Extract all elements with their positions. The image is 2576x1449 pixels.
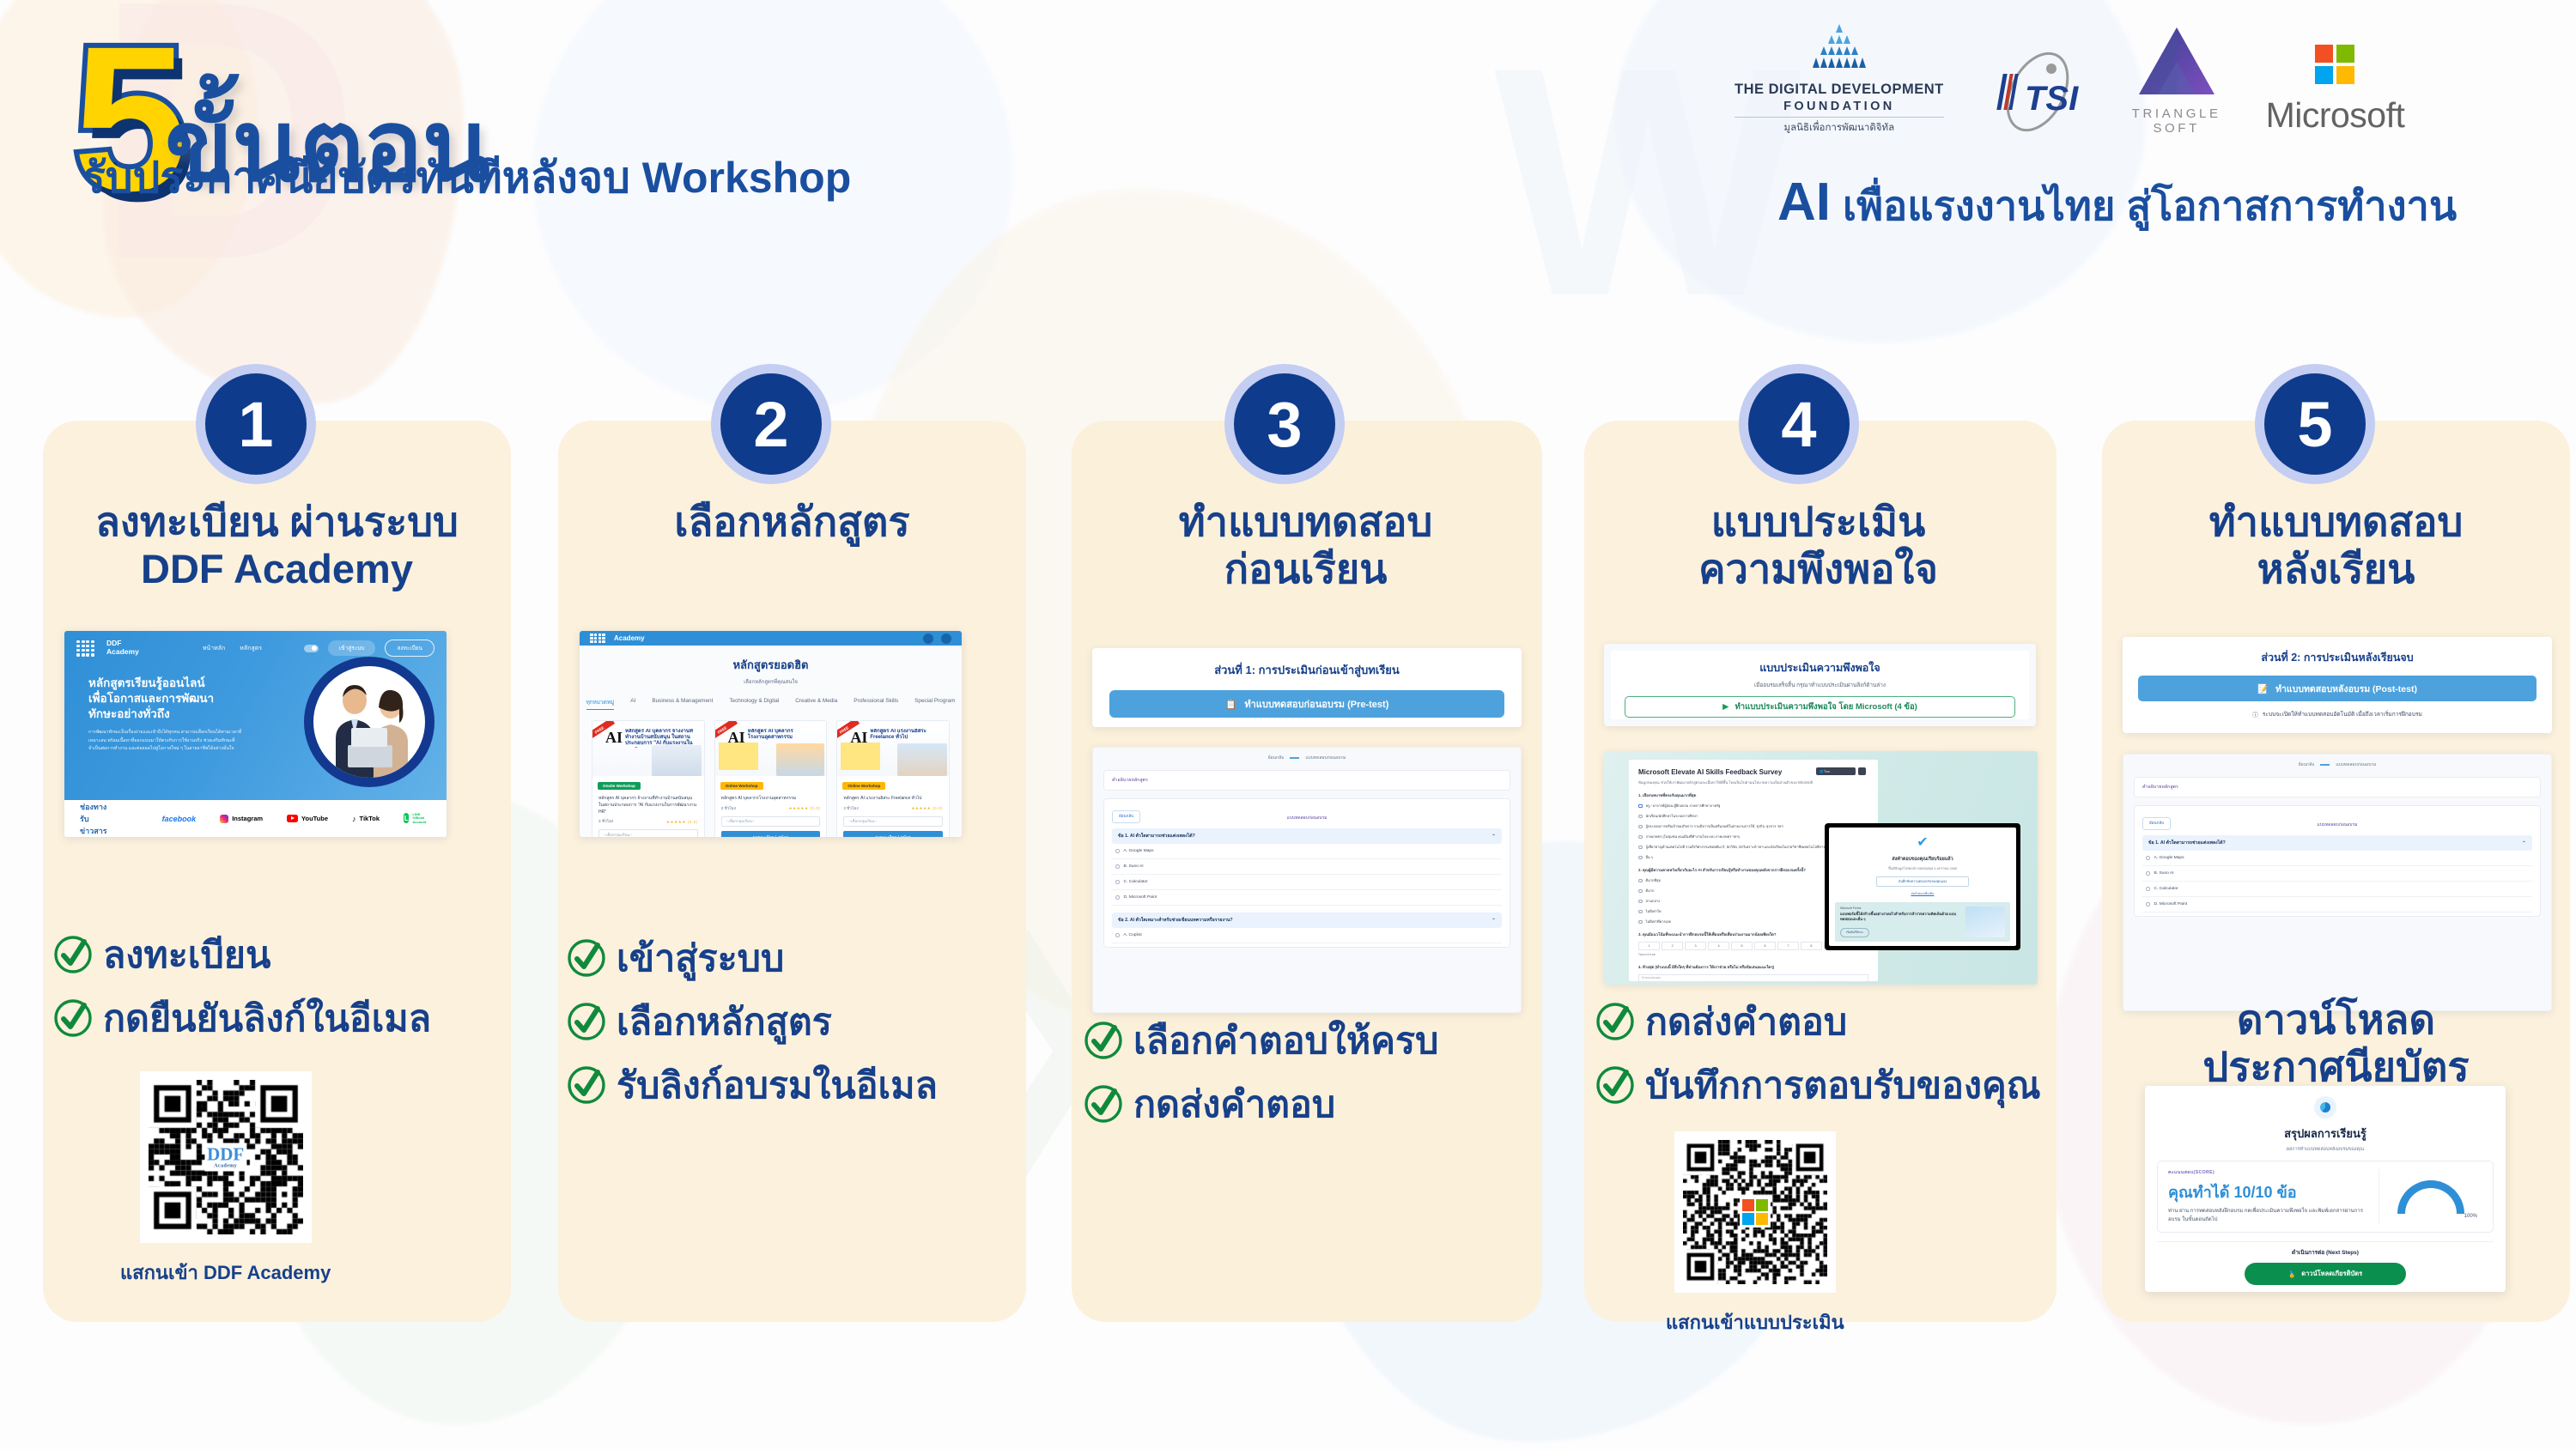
pretest-quiz-screenshot: ย้อนกลับแบบทดสอบก่อนอบรม คำอธิบายหลักสูต… bbox=[1092, 747, 1522, 1013]
form-option[interactable]: นักเรียน/นักศึกษาในระบบการศึกษา bbox=[1638, 813, 1868, 819]
tiktok-icon: ♪ bbox=[352, 815, 356, 823]
triangle-icon bbox=[2136, 24, 2218, 103]
forms-promo-brand: Microsoft Forms bbox=[1840, 906, 1961, 910]
radio-icon bbox=[2146, 871, 2150, 876]
radio-icon bbox=[2146, 887, 2150, 891]
score-description: ท่าน ผ่าน การทดสอบหลังฝึกอบรม กดเพื่อประ… bbox=[2168, 1208, 2370, 1224]
forms-promo: Microsoft Forms แบบฟอร์มนี้ได้สร้างขึ้นอ… bbox=[1835, 902, 2010, 942]
success-check-icon: ✔ bbox=[1829, 836, 2016, 850]
avatar[interactable] bbox=[923, 634, 933, 644]
radio-icon bbox=[1115, 864, 1120, 869]
hero-heading-line1: หลักสูตรเรียนรู้ออนไลน์ bbox=[88, 676, 243, 691]
tab-ai[interactable]: AI bbox=[630, 698, 635, 710]
save-response-button[interactable]: บันทึกข้อความตอบกลับของคุณเอง bbox=[1876, 876, 1969, 887]
checklist-label: กดส่งคำตอบ bbox=[1645, 992, 1847, 1051]
course-card[interactable]: FREE AIหลักสูตร AI บุคลากรโรงงานอุตสาหกร… bbox=[714, 720, 828, 837]
survey-button[interactable]: ▶ ทำแบบประเมินความพึงพอใจ โดย Microsoft … bbox=[1625, 696, 2015, 718]
radio-icon bbox=[1115, 849, 1120, 853]
course-card[interactable]: FREE AIหลักสูตร AI แรงงานอิสระ Freelance… bbox=[836, 720, 950, 837]
campaign-thai-label: เพื่อแรงงานไทย สู่โอกาสการทำงาน bbox=[1843, 183, 2457, 228]
check-circle-icon bbox=[567, 1065, 606, 1105]
academy-mark-icon bbox=[590, 634, 605, 643]
quiz-option[interactable]: C. Calculator bbox=[1112, 875, 1502, 890]
summary-subheading: ผลการทำแบบทดสอบหลังอบรมของคุณ bbox=[2145, 1146, 2506, 1153]
instagram-icon bbox=[220, 815, 228, 823]
form-option[interactable]: ครู / อาจารย์ผู้สอน ผู้ฝึกอบรม ภาคการศึก… bbox=[1638, 803, 1868, 809]
course-group-select[interactable]: --เลือกกลุ่มเรียน-- bbox=[598, 829, 698, 837]
course-rating: ★★★★★ (0.0) bbox=[911, 806, 943, 811]
hero-heading-line3: ทักษะอย่างทั่วถึง bbox=[88, 706, 243, 722]
chart-icon bbox=[2314, 1096, 2336, 1119]
ddf-logo-line1: THE DIGITAL DEVELOPMENT bbox=[1735, 82, 1944, 98]
course-card-headline: หลักสูตร AI บุคลากรโรงงานอุตสาหกรรม bbox=[748, 729, 810, 743]
checklist-label: บันทึกการตอบรับของคุณ bbox=[1645, 1056, 2041, 1114]
ddf-academy-website-screenshot: DDFAcademy หน้าหลัก หลักสูตร เข้าสู่ระบบ… bbox=[64, 631, 447, 837]
step-badge-5: 5 bbox=[2264, 373, 2366, 475]
download-certificate-heading: ดาวน์โหลด ประกาศนียบัตร bbox=[2102, 996, 2570, 1091]
course-badge: Online Workshop bbox=[842, 782, 885, 790]
social-channels-label: ช่องทางรับข่าวสาร bbox=[80, 801, 109, 837]
checklist-item: บันทึกการตอบรับของคุณ bbox=[1595, 1056, 2041, 1114]
tab-business[interactable]: Business & Management bbox=[652, 698, 713, 710]
pretest-panel: ส่วนที่ 1: การประเมินก่อนเข้าสู่บทเรียน … bbox=[1092, 648, 1522, 727]
feedback-form-screenshot: 🌐 ไทย Microsoft Elevate AI Skills Feedba… bbox=[1604, 751, 2038, 985]
form-answer-input[interactable]: คำตอบของคุณ bbox=[1638, 974, 1868, 982]
ddf-academy-brand: DDFAcademy bbox=[106, 640, 139, 656]
checklist-item: รับลิงก์อบรมในอีเมล bbox=[567, 1056, 938, 1114]
line-icon: L bbox=[404, 813, 409, 823]
course-badge: Online Workshop bbox=[720, 782, 763, 790]
campaign-ai-label: AI bbox=[1777, 173, 1831, 232]
course-duration: 3 ชั่วโมง bbox=[598, 819, 613, 825]
course-card-headline: หลักสูตร AI แรงงานอิสระ Freelance ทั่วไป bbox=[870, 729, 932, 743]
check-circle-icon bbox=[567, 938, 606, 978]
radio-icon bbox=[2146, 902, 2150, 906]
hero-heading-line2: เพื่อโอกาสและการพัฒนา bbox=[88, 691, 243, 706]
ddf-logo: THE DIGITAL DEVELOPMENT FOUNDATION มูลนิ… bbox=[1735, 22, 1944, 136]
radio-icon bbox=[1638, 920, 1643, 925]
checklist-item: กดยืนยันลิงก์ในอีเมล bbox=[53, 989, 431, 1047]
course-title: หลักสูตร AI แรงงานอิสระ Freelance ทั่วไป bbox=[837, 791, 949, 803]
survey-section-title: แบบประเมินความพึงพอใจ bbox=[1611, 659, 2029, 676]
posttest-quiz-screenshot: ย้อนกลับแบบทดสอบก่อนอบรม คำอธิบายหลักสูต… bbox=[2123, 754, 2552, 1011]
qr-center-logo bbox=[1740, 1197, 1771, 1228]
radio-icon bbox=[2146, 856, 2150, 860]
course-card[interactable]: FREE AIหลักสูตร AI บุคลากร จ้างงานที่ทำง… bbox=[592, 720, 705, 837]
language-select[interactable]: 🌐 ไทย bbox=[1816, 767, 1856, 775]
course-badge: Onsite Workshop bbox=[598, 782, 641, 790]
step-title-4: แบบประเมิน ความพึงพอใจ bbox=[1584, 498, 2052, 593]
step-badge-1: 1 bbox=[205, 373, 307, 475]
score-gauge bbox=[2397, 1180, 2464, 1214]
tab-special[interactable]: Special Program bbox=[914, 698, 955, 710]
nps-note: ไม่แนะนำเลย bbox=[1638, 953, 1868, 957]
register-button[interactable]: ลงทะเบียน bbox=[385, 640, 434, 657]
edit-document-icon: 📝 bbox=[2257, 683, 2269, 694]
svg-text:TSI: TSI bbox=[2025, 80, 2079, 118]
check-circle-icon bbox=[53, 935, 93, 974]
quiz-title: แบบทดสอบก่อนอบรม bbox=[2142, 822, 2532, 828]
step-title-5-line2: หลังเรียน bbox=[2102, 545, 2570, 592]
course-rating: ★★★★★ (0.0) bbox=[789, 806, 821, 811]
course-title: หลักสูตร AI บุคลากรโรงงานอุตสาหกรรม bbox=[715, 791, 827, 803]
check-circle-icon bbox=[53, 998, 93, 1038]
youtube-link[interactable]: YouTube bbox=[287, 815, 328, 822]
pyramid-icon bbox=[1802, 22, 1876, 77]
clipboard-icon: 📋 bbox=[1225, 699, 1237, 710]
checklist-item: เข้าสู่ระบบ bbox=[567, 929, 938, 987]
quiz-title: แบบทดสอบก่อนอบรม bbox=[1112, 815, 1502, 822]
category-tabs: ทุกหมวดหมู่ AI Business & Management Tec… bbox=[580, 698, 962, 710]
site-nav-home[interactable]: หน้าหลัก bbox=[203, 644, 225, 653]
line-link[interactable]: LLINE Official Account bbox=[404, 813, 431, 824]
theme-toggle[interactable] bbox=[304, 645, 319, 652]
youtube-icon bbox=[287, 815, 298, 822]
checklist-label: เลือกหลักสูตร bbox=[617, 992, 832, 1051]
qr-caption: แสกนเข้า DDF Academy bbox=[120, 1258, 331, 1288]
quiz-option[interactable]: A. Google Maps bbox=[1112, 844, 1502, 859]
step-title-1-line2: DDF Academy bbox=[43, 545, 511, 592]
step-badge-2: 2 bbox=[720, 373, 822, 475]
form-icon: ▶ bbox=[1722, 702, 1728, 712]
quiz-option[interactable]: B. Suno AI bbox=[2142, 866, 2532, 882]
partner-logos: THE DIGITAL DEVELOPMENT FOUNDATION มูลนิ… bbox=[1735, 22, 2404, 136]
microsoft-squares-icon bbox=[1742, 1199, 1768, 1225]
survey-subtitle: เมื่ออบรมเสร็จสิ้น กรุณาทำแบบประเมินผ่าน… bbox=[1611, 681, 2029, 689]
radio-icon bbox=[1638, 835, 1643, 840]
hero-paragraph: การพัฒนาทักษะเป็นเรื่องง่ายและเข้าถึงได้… bbox=[88, 729, 243, 752]
breadcrumb-current: แบบทดสอบก่อนอบรม bbox=[1305, 755, 1346, 761]
tab-creative[interactable]: Creative & Media bbox=[795, 698, 837, 710]
learning-summary-card: สรุปผลการเรียนรู้ ผลการทำแบบทดสอบหลังอบร… bbox=[2145, 1086, 2506, 1292]
checkbox-icon bbox=[1638, 804, 1643, 809]
radio-icon bbox=[1638, 825, 1643, 829]
satisfaction-survey-panel: แบบประเมินความพึงพอใจ เมื่ออบรมเสร็จสิ้น… bbox=[1604, 644, 2036, 726]
back-button[interactable]: ย้อนกลับ bbox=[1112, 810, 1140, 823]
page-subtitle: รับประกาศนียบัตรทันทีหลังจบ Workshop bbox=[82, 144, 851, 212]
radio-icon bbox=[1638, 910, 1643, 914]
checklist-item: เลือกคำตอบให้ครบ bbox=[1084, 1011, 1438, 1070]
step-title-4-line2: ความพึงพอใจ bbox=[1584, 545, 2052, 592]
instagram-link[interactable]: Instagram bbox=[220, 815, 263, 823]
quiz-option[interactable]: A. Copilot bbox=[1112, 928, 1502, 943]
ddf-logo-line2: FOUNDATION bbox=[1783, 100, 1895, 113]
breadcrumb-back[interactable]: ย้อนกลับ bbox=[1268, 755, 1285, 761]
submission-thanks-title: ส่งคำตอบของคุณเรียบร้อยแล้ว bbox=[1829, 856, 2016, 863]
course-rating: ★★★★★ (0.0) bbox=[666, 820, 698, 825]
tab-professional[interactable]: Professional Skills bbox=[854, 698, 898, 710]
posttest-hint: ⓘระบบจะเปิดให้ทำแบบทดสอบอัตโนมัติ เมื่อถ… bbox=[2123, 709, 2552, 718]
more-options-icon[interactable] bbox=[1858, 767, 1866, 775]
step-title-4-line1: แบบประเมิน bbox=[1584, 498, 2052, 545]
score-value: คุณทำได้ 10/10 ข้อ bbox=[2168, 1179, 2370, 1204]
forms-promo-thumbnail bbox=[1965, 906, 2005, 937]
course-duration: 3 ชั่วโมง bbox=[843, 806, 858, 812]
pretest-button[interactable]: 📋 ทำแบบทดสอบก่อนอบรม (Pre-test) bbox=[1109, 690, 1504, 718]
qr-center-logo: DDFAcademy bbox=[204, 1143, 246, 1172]
pretest-section-title: ส่วนที่ 1: การประเมินก่อนเข้าสู่บทเรียน bbox=[1092, 661, 1522, 679]
site-nav-courses[interactable]: หลักสูตร bbox=[240, 644, 262, 653]
course-title: หลักสูตร AI บุคลากร จ้างงานที่ทำงานบ้านส… bbox=[592, 791, 704, 815]
quiz-question[interactable]: ข้อ 1. AI ตัวใดสามารถช่วยแต่งเพลงได้?⌃ bbox=[2142, 835, 2532, 851]
radio-icon bbox=[1638, 879, 1643, 883]
step-title-1-line1: ลงทะเบียน ผ่านระบบ bbox=[43, 498, 511, 545]
academy-brand: Academy bbox=[614, 634, 645, 642]
step-card-2 bbox=[558, 421, 1026, 1322]
check-circle-icon bbox=[567, 1002, 606, 1041]
next-steps-label: ดำเนินการต่อ (Next Steps) bbox=[2145, 1248, 2506, 1257]
check-circle-icon bbox=[1595, 1002, 1635, 1041]
step-title-2-line1: เลือกหลักสูตร bbox=[558, 498, 1026, 545]
check-circle-icon bbox=[1595, 1065, 1635, 1105]
forms-promo-text: แบบฟอร์มนี้ได้สร้างขึ้นอย่างรวดเร็วสำหรั… bbox=[1840, 912, 1961, 922]
quiz-option[interactable]: D. Microsoft Paint bbox=[1112, 890, 1502, 906]
two-professionals-illustration bbox=[313, 666, 425, 778]
radio-icon bbox=[1115, 895, 1120, 900]
quiz-question[interactable]: ข้อ 2. AI ตัวใดเหมาะสำหรับช่วยเขียนบทควา… bbox=[1112, 912, 1502, 928]
itsi-atom-icon: TSI bbox=[1989, 48, 2087, 136]
quiz-option[interactable]: C. Calculator bbox=[2142, 882, 2532, 897]
posttest-button[interactable]: 📝 ทำแบบทดสอบหลังอบรม (Post-test) bbox=[2138, 676, 2537, 701]
ddf-logo-thai: มูลนิธิเพื่อการพัฒนาดิจิทัล bbox=[1784, 120, 1895, 136]
step-title-2: เลือกหลักสูตร bbox=[558, 498, 1026, 545]
download-heading-line2: ประกาศนียบัตร bbox=[2102, 1043, 2570, 1090]
checklist-label: กดส่งคำตอบ bbox=[1133, 1075, 1335, 1133]
facebook-link[interactable]: facebook bbox=[162, 815, 197, 823]
step-title-3-line1: ทำแบบทดสอบ bbox=[1072, 498, 1540, 545]
step-4-qr-block: แสกนเข้าแบบประเมิน bbox=[1666, 1131, 1844, 1337]
course-description-label: คำอธิบายหลักสูตร bbox=[2134, 777, 2541, 797]
step-badge-3: 3 bbox=[1234, 373, 1335, 475]
checklist-label: ลงทะเบียน bbox=[103, 925, 270, 984]
ddf-academy-mark-icon bbox=[76, 640, 94, 657]
triangle-soft-line1: TRIANGLE bbox=[2132, 106, 2221, 121]
form-subtitle: ข้อมูลของคุณ ช่วยให้เราพัฒนาหลักสูตรและเ… bbox=[1638, 780, 1868, 785]
step-2-checklist: เข้าสู่ระบบ เลือกหลักสูตร รับลิงก์อบรมใน… bbox=[567, 929, 938, 1119]
chevron-up-icon: ⌃ bbox=[2522, 840, 2526, 846]
quiz-option[interactable]: D. Microsoft Paint bbox=[2142, 897, 2532, 912]
form-question-1: 1. เลือกบทบาทที่ตรงกับคุณมากที่สุด bbox=[1638, 792, 1868, 798]
course-detail-button[interactable]: รายละเอียด | สมัคร bbox=[843, 831, 943, 837]
user-menu-icon[interactable] bbox=[941, 634, 951, 644]
login-button[interactable]: เข้าสู่ระบบ bbox=[328, 640, 376, 656]
check-circle-icon bbox=[1084, 1021, 1123, 1060]
posttest-panel: ส่วนที่ 2: การประเมินหลังเรียนจบ 📝 ทำแบบ… bbox=[2123, 637, 2552, 733]
qr-code-satisfaction-survey[interactable] bbox=[1674, 1131, 1836, 1293]
chevron-up-icon: ⌃ bbox=[1492, 834, 1496, 840]
breadcrumb-current: แบบทดสอบก่อนอบรม bbox=[2336, 761, 2376, 768]
gauge-value: 100% bbox=[2464, 1214, 2477, 1219]
quiz-option[interactable]: B. Suno AI bbox=[1112, 859, 1502, 875]
checklist-item: กดส่งคำตอบ bbox=[1595, 992, 2041, 1051]
submission-thanks-note: ขึ้นมีข้อมูลโปรดแจ้ง ขอขอบคุณ 4 มกราคม 2… bbox=[1829, 866, 2016, 871]
form-question-4: 4. ท้ายสุด (ทำแบบนี้ มีสิ่งใดๆ ที่ท่านต้… bbox=[1638, 964, 1868, 970]
course-catalog-screenshot: Academy หลักสูตรยอดฮิต เลือกหลักสูตรที่ค… bbox=[580, 631, 962, 837]
radio-icon bbox=[1638, 889, 1643, 894]
microsoft-logo: Microsoft bbox=[2266, 45, 2405, 136]
hero-photo bbox=[304, 657, 434, 787]
medal-icon: 🏅 bbox=[2288, 1270, 2296, 1278]
checklist-item: เลือกหลักสูตร bbox=[567, 992, 938, 1051]
triangle-soft-line2: SOFT bbox=[2153, 121, 2199, 136]
download-certificate-button[interactable]: 🏅ดาวน์โหลดเกียรติบัตร bbox=[2245, 1263, 2406, 1285]
back-button[interactable]: ย้อนกลับ bbox=[2142, 817, 2171, 830]
download-heading-line1: ดาวน์โหลด bbox=[2102, 996, 2570, 1043]
posttest-section-title: ส่วนที่ 2: การประเมินหลังเรียนจบ bbox=[2123, 649, 2552, 666]
laptop-confirmation-inset: ✔ ส่งคำตอบของคุณเรียบร้อยแล้ว ขึ้นมีข้อม… bbox=[1825, 823, 2020, 950]
checklist-label: รับลิงก์อบรมในอีเมล bbox=[617, 1056, 938, 1114]
tiktok-link[interactable]: ♪TikTok bbox=[352, 815, 380, 823]
course-group-select[interactable]: --เลือกกลุ่มเรียน-- bbox=[721, 816, 821, 827]
score-label: คะแนนสอบ(SCORE) bbox=[2168, 1169, 2370, 1176]
radio-icon bbox=[1115, 880, 1120, 884]
radio-icon bbox=[1638, 856, 1643, 860]
step-badge-4: 4 bbox=[1748, 373, 1850, 475]
step-1-checklist: ลงทะเบียน กดยืนยันลิงก์ในอีเมล bbox=[53, 925, 431, 1052]
itsi-logo: TSI bbox=[1989, 48, 2087, 136]
campaign-tagline: AIเพื่อแรงงานไทย สู่โอกาสการทำงาน bbox=[1777, 172, 2457, 238]
step-title-5-line1: ทำแบบทดสอบ bbox=[2102, 498, 2570, 545]
course-description-label: คำอธิบายหลักสูตร bbox=[1103, 770, 1510, 791]
info-icon: ⓘ bbox=[2252, 710, 2258, 718]
quiz-option[interactable]: A. Google Maps bbox=[2142, 851, 2532, 866]
checklist-label: เลือกคำตอบให้ครบ bbox=[1133, 1011, 1438, 1070]
quiz-question[interactable]: ข้อ 1. AI ตัวใดสามารถช่วยแต่งเพลงได้?⌃ bbox=[1112, 828, 1502, 844]
catalog-heading: หลักสูตรยอดฮิต bbox=[580, 656, 962, 674]
radio-icon bbox=[1638, 815, 1643, 819]
check-circle-icon bbox=[1084, 1084, 1123, 1124]
globe-icon: 🌐 bbox=[1820, 770, 1823, 773]
submit-another-link[interactable]: ส่งคำตอบเพิ่มเติม bbox=[1829, 891, 2016, 896]
microsoft-squares-icon bbox=[2315, 45, 2354, 84]
radio-icon bbox=[1638, 900, 1643, 904]
radio-icon bbox=[1115, 933, 1120, 937]
step-title-1: ลงทะเบียน ผ่านระบบ DDF Academy bbox=[43, 498, 511, 593]
step-3-checklist: เลือกคำตอบให้ครบ กดส่งคำตอบ bbox=[1084, 1011, 1438, 1138]
course-detail-button[interactable]: รายละเอียด | สมัคร bbox=[721, 831, 821, 837]
microsoft-wordmark: Microsoft bbox=[2266, 95, 2405, 136]
step-4-checklist: กดส่งคำตอบ บันทึกการตอบรับของคุณ bbox=[1595, 992, 2041, 1119]
chevron-up-icon: ⌃ bbox=[1492, 918, 1496, 924]
checklist-item: กดส่งคำตอบ bbox=[1084, 1075, 1438, 1133]
checklist-item: ลงทะเบียน bbox=[53, 925, 431, 984]
checklist-label: เข้าสู่ระบบ bbox=[617, 929, 784, 987]
breadcrumb-back[interactable]: ย้อนกลับ bbox=[2299, 761, 2315, 768]
course-duration: 3 ชั่วโมง bbox=[721, 806, 736, 812]
checklist-label: กดยืนยันลิงก์ในอีเมล bbox=[103, 989, 431, 1047]
radio-icon bbox=[1638, 846, 1643, 850]
catalog-subheading: เลือกหลักสูตรที่คุณสนใจ bbox=[580, 677, 962, 686]
course-group-select[interactable]: --เลือกกลุ่มเรียน-- bbox=[843, 816, 943, 827]
summary-heading: สรุปผลการเรียนรู้ bbox=[2145, 1125, 2506, 1143]
qr-code-ddf-academy[interactable]: DDFAcademy bbox=[140, 1071, 312, 1243]
step-title-3: ทำแบบทดสอบ ก่อนเรียน bbox=[1072, 498, 1540, 593]
step-title-5: ทำแบบทดสอบ หลังเรียน bbox=[2102, 498, 2570, 593]
step-title-3-line2: ก่อนเรียน bbox=[1072, 545, 1540, 592]
triangle-soft-logo: TRIANGLE SOFT bbox=[2132, 24, 2221, 136]
step-1-qr-block: DDFAcademy แสกนเข้า DDF Academy bbox=[120, 1071, 331, 1288]
tab-all[interactable]: ทุกหมวดหมู่ bbox=[586, 698, 615, 710]
forms-promo-button[interactable]: เริ่มต้นใช้งาน bbox=[1840, 928, 1869, 937]
tab-technology[interactable]: Technology & Digital bbox=[729, 698, 779, 710]
qr-caption: แสกนเข้าแบบประเมิน bbox=[1666, 1307, 1844, 1337]
